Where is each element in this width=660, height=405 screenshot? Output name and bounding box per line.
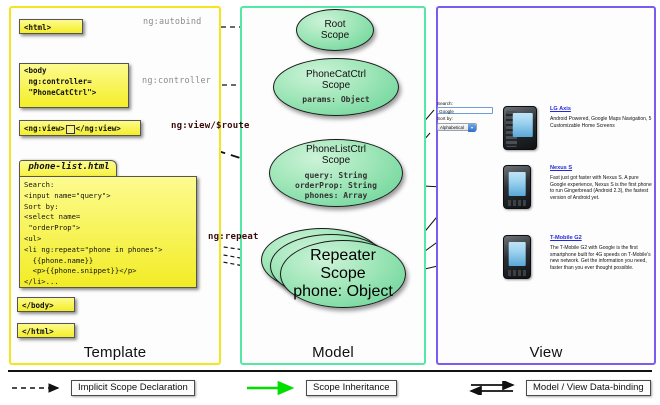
phone-snippet: The T-Mobile G2 with Google is the first…	[550, 245, 652, 272]
phone-name-link[interactable]: LG Axis	[550, 106, 652, 113]
column-label-template: Template	[11, 344, 219, 361]
scope-phonecatctrl-title-line2: Scope	[322, 80, 350, 91]
scope-phonecatctrl-title-line1: PhoneCatCtrl	[306, 69, 366, 80]
phone-name-link[interactable]: Nexus S	[550, 165, 652, 172]
scope-repeater-props: phone: Object	[293, 283, 393, 301]
scope-root-title-line2: Scope	[321, 30, 349, 41]
legend-label: Scope Inheritance	[306, 380, 397, 396]
scope-phonecatctrl-props: params: Object	[302, 95, 369, 105]
connector-label-ng-view-route: ng:view/$route	[171, 121, 250, 131]
legend-item-implicit-scope-declaration: Implicit Scope Declaration	[10, 380, 195, 396]
code-box-html-open: <html>	[19, 19, 83, 34]
ngview-placeholder-square	[66, 125, 75, 134]
template-note-phone-list: phone-list.html Search: <input name="que…	[19, 160, 197, 288]
code-box-body-open: <body ng:controller= "PhoneCatCtrl">	[19, 63, 129, 108]
ngview-close-tag: </ng:view>	[76, 124, 121, 133]
scope-repeater-title-line1: Repeater	[310, 247, 376, 265]
search-input[interactable]: Google	[437, 107, 493, 114]
scope-root: Root Scope	[296, 9, 374, 51]
code-box-html-close: </html>	[17, 323, 75, 338]
chevron-down-icon: ▾	[468, 124, 476, 132]
phone-screen-art	[512, 113, 532, 137]
phone-text: T-Mobile G2 The T-Mobile G2 with Google …	[550, 235, 652, 272]
scope-repeater: Repeater Scope phone: Object	[280, 240, 406, 308]
phone-text: LG Axis Android Powered, Google Maps Nav…	[550, 106, 652, 129]
code-box-ngview: <ng:view></ng:view>	[19, 120, 141, 136]
phone-buttons-art	[508, 270, 526, 276]
scope-phonelistctrl-props: query: String orderProp: String phones: …	[295, 171, 377, 202]
scope-phonelistctrl: PhoneListCtrl Scope query: String orderP…	[269, 139, 403, 207]
legend-divider	[8, 370, 652, 372]
scope-phonelistctrl-title-line2: Scope	[322, 155, 350, 166]
scope-root-title-line1: Root	[324, 19, 345, 30]
phone-image	[503, 106, 537, 150]
legend-item-data-binding: Model / View Data-binding	[465, 380, 651, 396]
connector-label-ng-controller: ng:controller	[142, 76, 211, 86]
scope-repeater-stack: Repeater Scope phone: Object	[261, 228, 411, 314]
green-arrow-icon	[245, 381, 301, 395]
sort-select-value: Alphabetical	[440, 125, 464, 130]
sort-select[interactable]: Alphabetical ▾	[437, 123, 477, 131]
diagram-canvas: Template Model View <html> <body ng:cont…	[0, 0, 660, 405]
phone-image	[503, 165, 531, 209]
phone-buttons-art	[508, 200, 526, 206]
view-search-form: Search: Google Sort by: Alphabetical ▾	[437, 101, 495, 131]
note-filename: phone-list.html	[23, 162, 115, 172]
scope-phonelistctrl-title-line1: PhoneListCtrl	[306, 144, 366, 155]
sort-label: Sort by:	[437, 116, 495, 121]
column-label-model: Model	[242, 344, 424, 361]
double-arrow-icon	[465, 381, 521, 395]
phone-screen-art	[509, 242, 526, 266]
scope-phonecatctrl: PhoneCatCtrl Scope params: Object	[273, 58, 399, 116]
phone-snippet: Fast just got faster with Nexus S. A pur…	[550, 175, 652, 202]
note-code: Search: <input name="query"> Sort by: <s…	[19, 176, 197, 288]
legend: Implicit Scope Declaration Scope Inherit…	[0, 370, 660, 405]
phone-screen-art	[509, 172, 526, 196]
phone-text: Nexus S Fast just got faster with Nexus …	[550, 165, 652, 202]
phone-name-link[interactable]: T-Mobile G2	[550, 235, 652, 242]
dashed-arrow-icon	[10, 381, 66, 395]
code-box-body-close: </body>	[17, 297, 75, 312]
phone-image	[503, 235, 531, 279]
connector-label-ng-repeat: ng:repeat	[208, 232, 259, 242]
phone-snippet: Android Powered, Google Maps Navigation,…	[550, 116, 652, 130]
scope-repeater-title-line2: Scope	[320, 265, 365, 283]
legend-label: Implicit Scope Declaration	[71, 380, 195, 396]
ngview-open-tag: <ng:view>	[24, 124, 65, 133]
legend-label: Model / View Data-binding	[526, 380, 651, 396]
connector-label-ng-autobind: ng:autobind	[143, 17, 202, 27]
legend-item-scope-inheritance: Scope Inheritance	[245, 380, 397, 396]
search-label: Search:	[437, 101, 495, 106]
column-label-view: View	[438, 344, 654, 361]
